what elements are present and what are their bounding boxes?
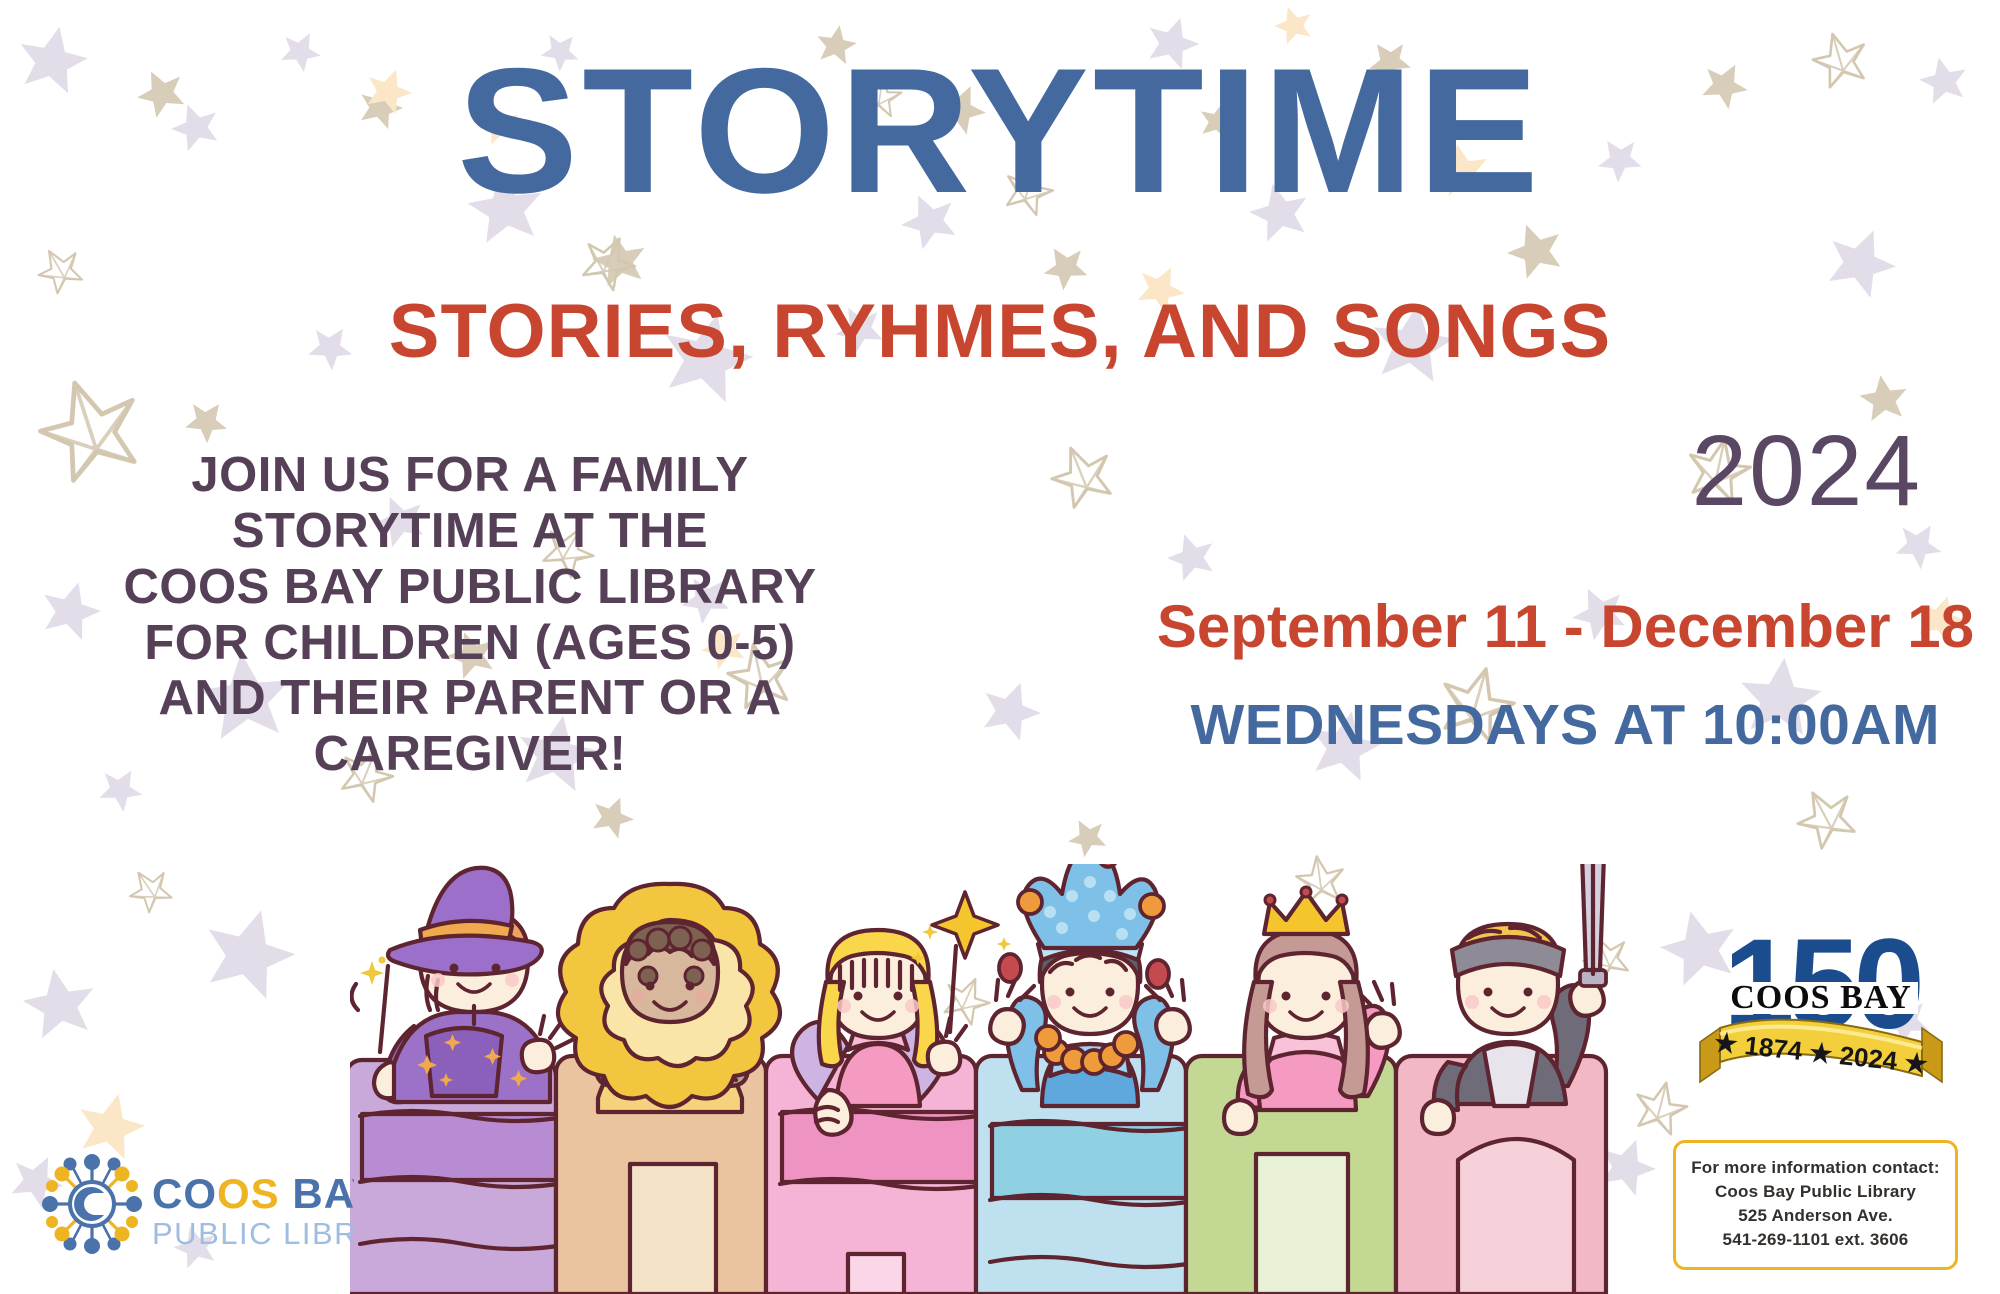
contact-line-4: 541-269-1101 ext. 3606	[1684, 1228, 1947, 1252]
coos-bay-public-library-logo: COOS BAY PUBLIC LIBRARY	[34, 1146, 354, 1266]
child-wizard	[351, 868, 572, 1102]
contact-line-3: 525 Anderson Ave.	[1684, 1204, 1947, 1228]
description-line-3: COOS BAY PUBLIC LIBRARY	[60, 560, 880, 616]
event-schedule-time: WEDNESDAYS AT 10:00AM	[1190, 692, 1940, 758]
library-logo-name: COOS BAY	[152, 1170, 354, 1217]
library-network-icon	[42, 1154, 142, 1254]
event-date-range: September 11 - December 18	[1157, 592, 1974, 661]
description-line-4: FOR CHILDREN (AGES 0-5)	[60, 616, 880, 672]
contact-line-1: For more information contact:	[1684, 1156, 1947, 1180]
coos-bay-150-anniversary-logo: 150 COOS BAY ★ 1874 ★ 2024 ★	[1686, 910, 1956, 1095]
anniversary-city: COOS BAY	[1730, 979, 1912, 1016]
description-line-1: JOIN US FOR A FAMILY	[60, 448, 880, 504]
description-line-2: STORYTIME AT THE	[60, 504, 880, 560]
poster-subtitle: STORIES, RYHMES, AND SONGS	[0, 288, 2000, 375]
page-title: STORYTIME	[0, 46, 2000, 215]
contact-line-2: Coos Bay Public Library	[1684, 1180, 1947, 1204]
event-description: JOIN US FOR A FAMILY STORYTIME AT THE CO…	[60, 448, 880, 783]
poster-subtitle-container: STORIES, RYHMES, AND SONGS	[0, 288, 2000, 375]
description-line-5: AND THEIR PARENT OR A	[60, 671, 880, 727]
child-jester	[990, 864, 1190, 1106]
poster-title-container: STORYTIME	[0, 46, 2000, 215]
costumed-children-illustration: .ol { stroke:#5e2530; stroke-width:4.2; …	[350, 864, 1640, 1294]
storytime-poster: STORYTIME STORIES, RYHMES, AND SONGS JOI…	[0, 0, 2000, 1294]
event-year: 2024	[1692, 414, 1922, 529]
library-logo-subtitle: PUBLIC LIBRARY	[152, 1216, 354, 1251]
description-line-6: CAREGIVER!	[60, 727, 880, 783]
contact-info-box: For more information contact: Coos Bay P…	[1673, 1140, 1958, 1271]
